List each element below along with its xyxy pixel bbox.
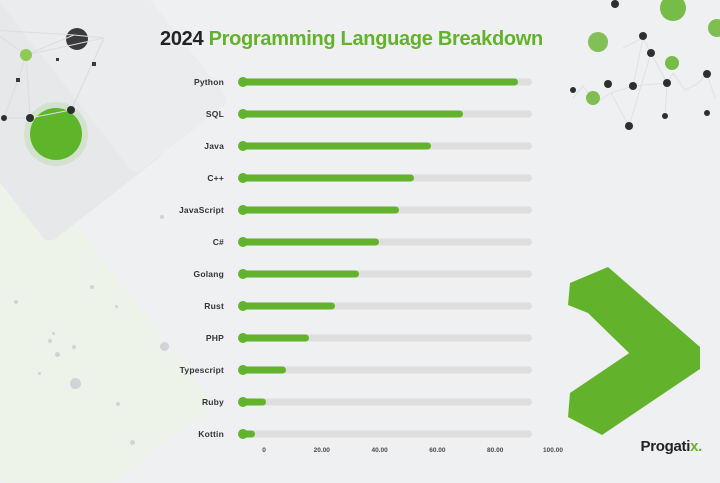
bar-row-label: PHP bbox=[0, 333, 238, 343]
logo-wordmark: Progatix. bbox=[641, 438, 703, 455]
logo-accent: x bbox=[690, 438, 698, 455]
title-year: 2024 bbox=[160, 28, 203, 50]
bar-row-label: JavaScript bbox=[0, 205, 238, 215]
bar-knob-icon bbox=[238, 173, 248, 183]
bar-fill bbox=[243, 79, 518, 86]
bar-knob-icon bbox=[238, 109, 248, 119]
bar-row: C++ bbox=[0, 162, 720, 194]
x-axis-tick: 100.00 bbox=[543, 447, 563, 454]
bar-track-wrap bbox=[238, 392, 532, 412]
bar-fill bbox=[243, 335, 309, 342]
bar-track-wrap bbox=[238, 168, 532, 188]
bar-knob-icon bbox=[238, 205, 248, 215]
bar-track bbox=[243, 399, 532, 406]
x-axis-tick: 20.00 bbox=[314, 447, 330, 454]
x-axis-tick: 80.00 bbox=[487, 447, 503, 454]
bar-row: SQL bbox=[0, 98, 720, 130]
bar-knob-icon bbox=[238, 301, 248, 311]
bar-knob-icon bbox=[238, 237, 248, 247]
bar-knob-icon bbox=[238, 333, 248, 343]
bar-track-wrap bbox=[238, 200, 532, 220]
bar-row-label: Golang bbox=[0, 269, 238, 279]
bar-row: Python bbox=[0, 66, 720, 98]
bar-fill bbox=[243, 207, 399, 214]
bar-row-label: Java bbox=[0, 141, 238, 151]
bar-track-wrap bbox=[238, 296, 532, 316]
x-axis-tick: 40.00 bbox=[371, 447, 387, 454]
bar-knob-icon bbox=[238, 77, 248, 87]
chevron-right-icon bbox=[562, 265, 702, 435]
bar-track-wrap bbox=[238, 360, 532, 380]
bar-row: JavaScript bbox=[0, 194, 720, 226]
bar-knob-icon bbox=[238, 365, 248, 375]
title-rest: Programming Language Breakdown bbox=[209, 28, 543, 50]
bar-row-label: Rust bbox=[0, 301, 238, 311]
bar-fill bbox=[243, 175, 414, 182]
bar-track-wrap bbox=[238, 232, 532, 252]
bar-track-wrap bbox=[238, 72, 532, 92]
bar-fill bbox=[243, 143, 431, 150]
bar-track-wrap bbox=[238, 264, 532, 284]
x-axis: 020.0040.0060.0080.00100.00 bbox=[243, 447, 553, 463]
bar-row-label: Python bbox=[0, 77, 238, 87]
bar-row-label: SQL bbox=[0, 109, 238, 119]
bar-knob-icon bbox=[238, 141, 248, 151]
bar-knob-icon bbox=[238, 429, 248, 439]
x-axis-tick: 0 bbox=[262, 447, 266, 454]
bar-fill bbox=[243, 239, 379, 246]
bar-track-wrap bbox=[238, 136, 532, 156]
bar-fill bbox=[243, 303, 335, 310]
page-title: 2024 Programming Language Breakdown bbox=[160, 28, 543, 51]
bar-row-label: C++ bbox=[0, 173, 238, 183]
bar-row: Java bbox=[0, 130, 720, 162]
bar-track-wrap bbox=[238, 328, 532, 348]
logo-dot: . bbox=[698, 438, 702, 455]
infographic-canvas: 2024 Programming Language Breakdown Pyth… bbox=[0, 0, 720, 483]
logo-name: Progati bbox=[641, 438, 691, 455]
bar-row-label: C# bbox=[0, 237, 238, 247]
bar-knob-icon bbox=[238, 397, 248, 407]
bar-knob-icon bbox=[238, 269, 248, 279]
bar-row-label: Kottin bbox=[0, 429, 238, 439]
bar-track-wrap bbox=[238, 424, 532, 444]
bar-fill bbox=[243, 271, 359, 278]
bar-row-label: Typescript bbox=[0, 365, 238, 375]
bar-fill bbox=[243, 367, 286, 374]
bar-track bbox=[243, 431, 532, 438]
bar-track bbox=[243, 367, 532, 374]
bar-row-label: Ruby bbox=[0, 397, 238, 407]
x-axis-tick: 60.00 bbox=[429, 447, 445, 454]
bar-track-wrap bbox=[238, 104, 532, 124]
bar-fill bbox=[243, 111, 463, 118]
bar-row: C# bbox=[0, 226, 720, 258]
